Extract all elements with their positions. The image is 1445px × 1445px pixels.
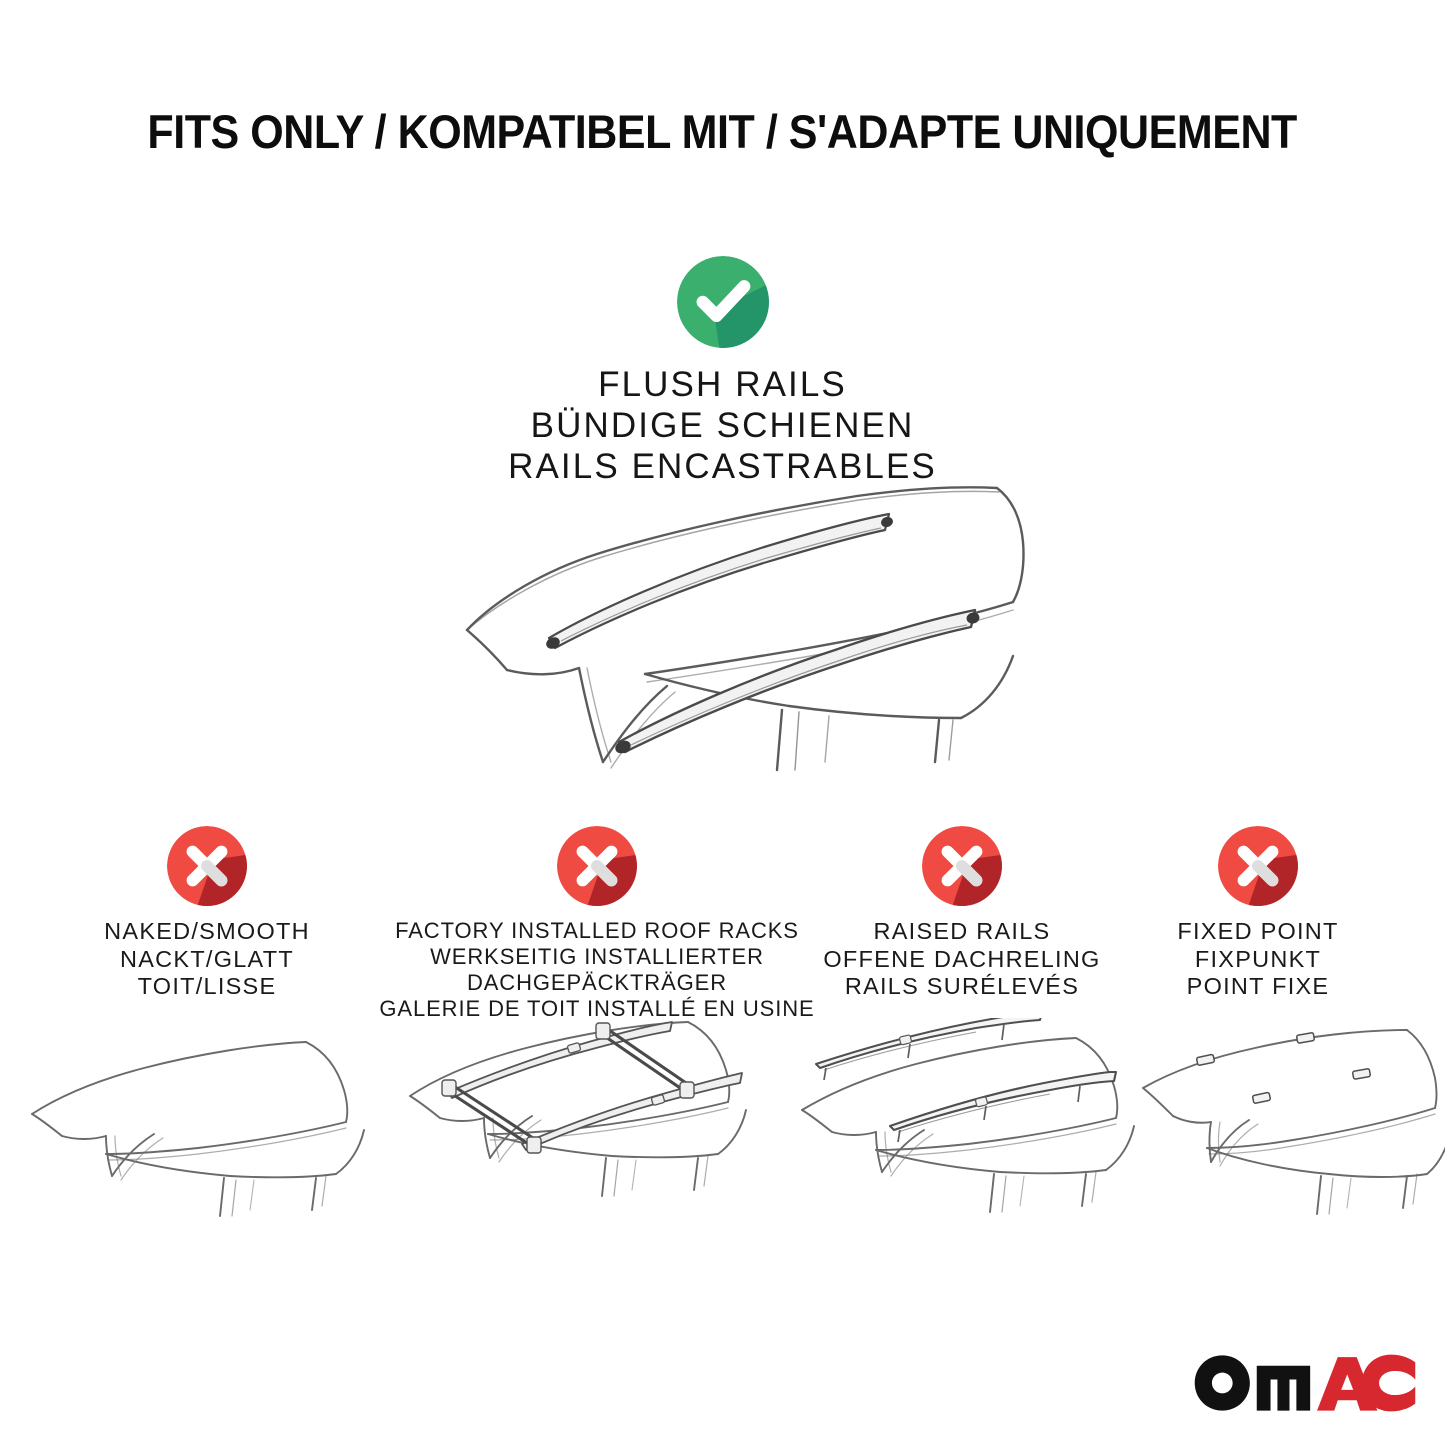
incompatible-item-naked-smooth: NAKED/SMOOTH NACKT/GLATT TOIT/LISSE: [37, 826, 377, 1001]
incompatible-label-line: FIXPUNKT: [1118, 946, 1398, 974]
incompatible-labels: NAKED/SMOOTH NACKT/GLATT TOIT/LISSE: [37, 918, 377, 1001]
x-circle-icon: [557, 826, 637, 906]
incompatible-label-line: NAKED/SMOOTH: [37, 918, 377, 946]
incompatible-item-factory-roof-racks: FACTORY INSTALLED ROOF RACKS WERKSEITIG …: [371, 826, 823, 1022]
car-roof-fixed-point-illustration: [1135, 1028, 1445, 1228]
car-roof-naked-smooth-illustration: [20, 1028, 410, 1228]
compatible-section: FLUSH RAILS BÜNDIGE SCHIENEN RAILS ENCAS…: [0, 256, 1445, 487]
compatible-label-line: FLUSH RAILS: [0, 364, 1445, 405]
car-roof-factory-roof-racks-illustration: [400, 1000, 800, 1228]
incompatible-label-line: POINT FIXE: [1118, 973, 1398, 1001]
incompatible-section: NAKED/SMOOTH NACKT/GLATT TOIT/LISSE FACT…: [0, 826, 1445, 1026]
x-circle-icon: [922, 826, 1002, 906]
incompatible-labels: FIXED POINT FIXPUNKT POINT FIXE: [1118, 918, 1398, 1001]
incompatible-label-line: NACKT/GLATT: [37, 946, 377, 974]
incompatible-labels: RAISED RAILS OFFENE DACHRELING RAILS SUR…: [817, 918, 1107, 1001]
incompatible-label-line: FACTORY INSTALLED ROOF RACKS: [371, 918, 823, 944]
page-title: FITS ONLY / KOMPATIBEL MIT / S'ADAPTE UN…: [148, 104, 1297, 160]
incompatible-label-line: FIXED POINT: [1118, 918, 1398, 946]
incompatible-label-line: WERKSEITIG INSTALLIERTER: [371, 944, 823, 970]
check-circle-icon: [677, 256, 769, 348]
incompatible-label-line: TOIT/LISSE: [37, 973, 377, 1001]
compatible-labels: FLUSH RAILS BÜNDIGE SCHIENEN RAILS ENCAS…: [0, 364, 1445, 487]
incompatible-label-line: RAISED RAILS: [817, 918, 1107, 946]
incompatible-item-raised-rails: RAISED RAILS OFFENE DACHRELING RAILS SUR…: [817, 826, 1107, 1001]
brand-logo: [1193, 1352, 1417, 1420]
incompatible-label-line: OFFENE DACHRELING: [817, 946, 1107, 974]
car-roof-with-flush-rails-illustration: [437, 470, 1027, 790]
incompatible-label-line: RAILS SURÉLEVÉS: [817, 973, 1107, 1001]
x-circle-icon: [167, 826, 247, 906]
header: FITS ONLY / KOMPATIBEL MIT / S'ADAPTE UN…: [0, 104, 1445, 160]
incompatible-item-fixed-point: FIXED POINT FIXPUNKT POINT FIXE: [1118, 826, 1398, 1001]
x-circle-icon: [1218, 826, 1298, 906]
car-roof-raised-rails-illustration: [790, 1018, 1180, 1228]
incompatible-label-line: DACHGEPÄCKTRÄGER: [371, 970, 823, 996]
compatible-label-line: BÜNDIGE SCHIENEN: [0, 405, 1445, 446]
